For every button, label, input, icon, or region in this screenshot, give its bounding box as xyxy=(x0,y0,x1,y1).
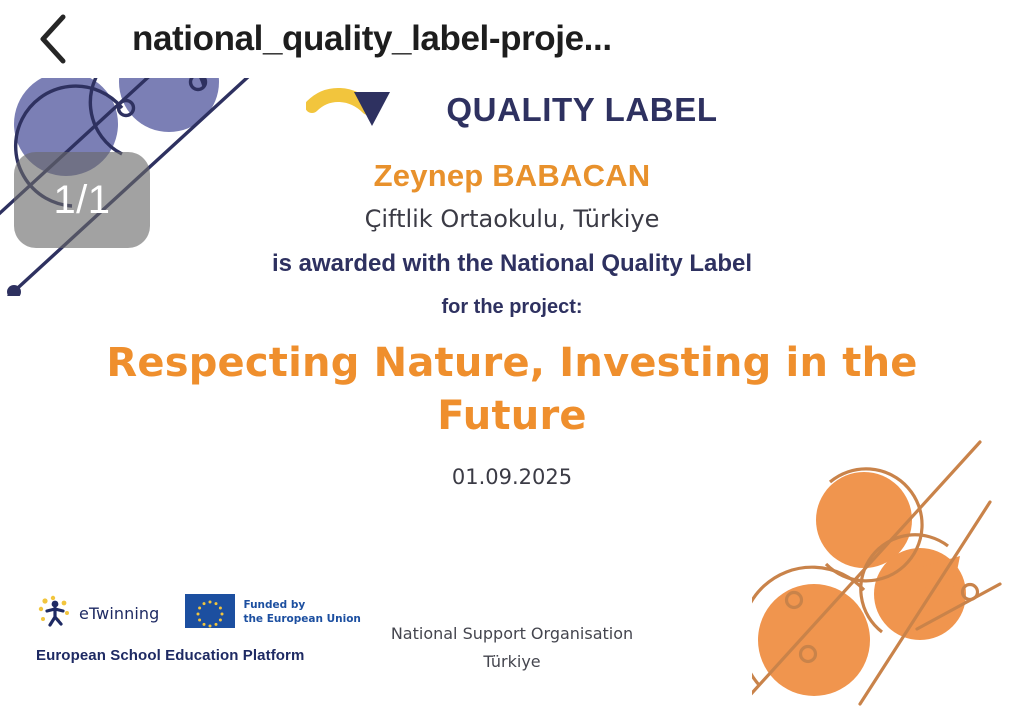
awardee-school: Çiftlik Ortaokulu, Türkiye xyxy=(0,205,1024,233)
nso-line-1: National Support Organisation xyxy=(0,620,1024,648)
chevron-left-icon xyxy=(36,13,70,65)
national-support-organisation: National Support Organisation Türkiye xyxy=(0,620,1024,676)
viewer-top-bar: national_quality_label-proje... xyxy=(0,0,1024,78)
awardee-name: Zeynep BABACAN xyxy=(0,158,1024,194)
quality-label-logo: QUALITY LABEL xyxy=(0,84,1024,134)
document-title: national_quality_label-proje... xyxy=(132,19,612,59)
quality-label-text: QUALITY LABEL xyxy=(446,93,717,126)
award-statement: is awarded with the National Quality Lab… xyxy=(0,250,1024,278)
nso-line-2: Türkiye xyxy=(0,648,1024,676)
page-indicator-text: 1/1 xyxy=(53,178,110,223)
back-button[interactable] xyxy=(22,8,84,70)
page-indicator-badge: 1/1 xyxy=(14,152,150,248)
quality-label-check-icon xyxy=(306,84,438,134)
certificate-page[interactable]: QUALITY LABEL Zeynep BABACAN Çiftlik Ort… xyxy=(0,78,1024,714)
certificate-body: Zeynep BABACAN Çiftlik Ortaokulu, Türkiy… xyxy=(0,158,1024,489)
project-title: Respecting Nature, Investing in the Futu… xyxy=(92,337,932,443)
award-date: 01.09.2025 xyxy=(0,465,1024,489)
eu-funding-line-1: Funded by xyxy=(243,599,305,611)
for-the-project-label: for the project: xyxy=(0,296,1024,319)
